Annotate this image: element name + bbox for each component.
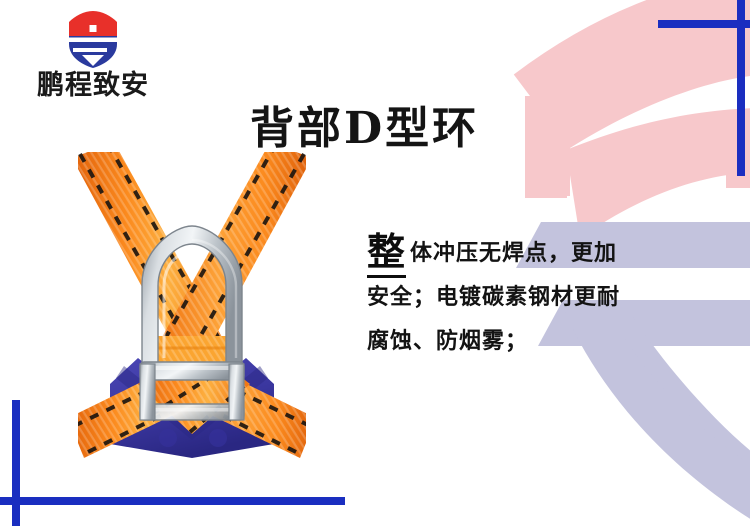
blue-rule-top-right-vertical — [737, 0, 745, 176]
harness-d-ring-photo — [78, 152, 306, 458]
pink-tail — [566, 108, 750, 238]
copy-lead-character: 整 — [367, 230, 406, 278]
feature-copy: 整体冲压无焊点，更加 安全；电镀碳素钢材更耐 腐蚀、防烟雾； — [367, 228, 667, 364]
page-title: 背部D型环 — [250, 92, 479, 156]
brand-wordmark: 鹏程致安 — [18, 72, 168, 100]
blue-rule-bottom-left-vertical — [12, 400, 20, 526]
product-photo — [78, 152, 306, 458]
poster-canvas: 鹏程致安 背部D型环 — [0, 0, 750, 526]
brand-logo: 鹏程致安 — [18, 8, 168, 100]
blue-rule-bottom-left-horizontal — [0, 497, 345, 505]
copy-line-1: 整体冲压无焊点，更加 — [367, 228, 667, 276]
copy-line-3: 腐蚀、防烟雾； — [367, 320, 667, 364]
copy-line-1-text: 体冲压无焊点，更加 — [410, 241, 617, 266]
pink-stem — [525, 96, 567, 198]
copy-line-2: 安全；电镀碳素钢材更耐 — [367, 276, 667, 320]
pink-swoosh-letter — [490, 0, 750, 225]
shield-logo-icon — [60, 8, 126, 70]
